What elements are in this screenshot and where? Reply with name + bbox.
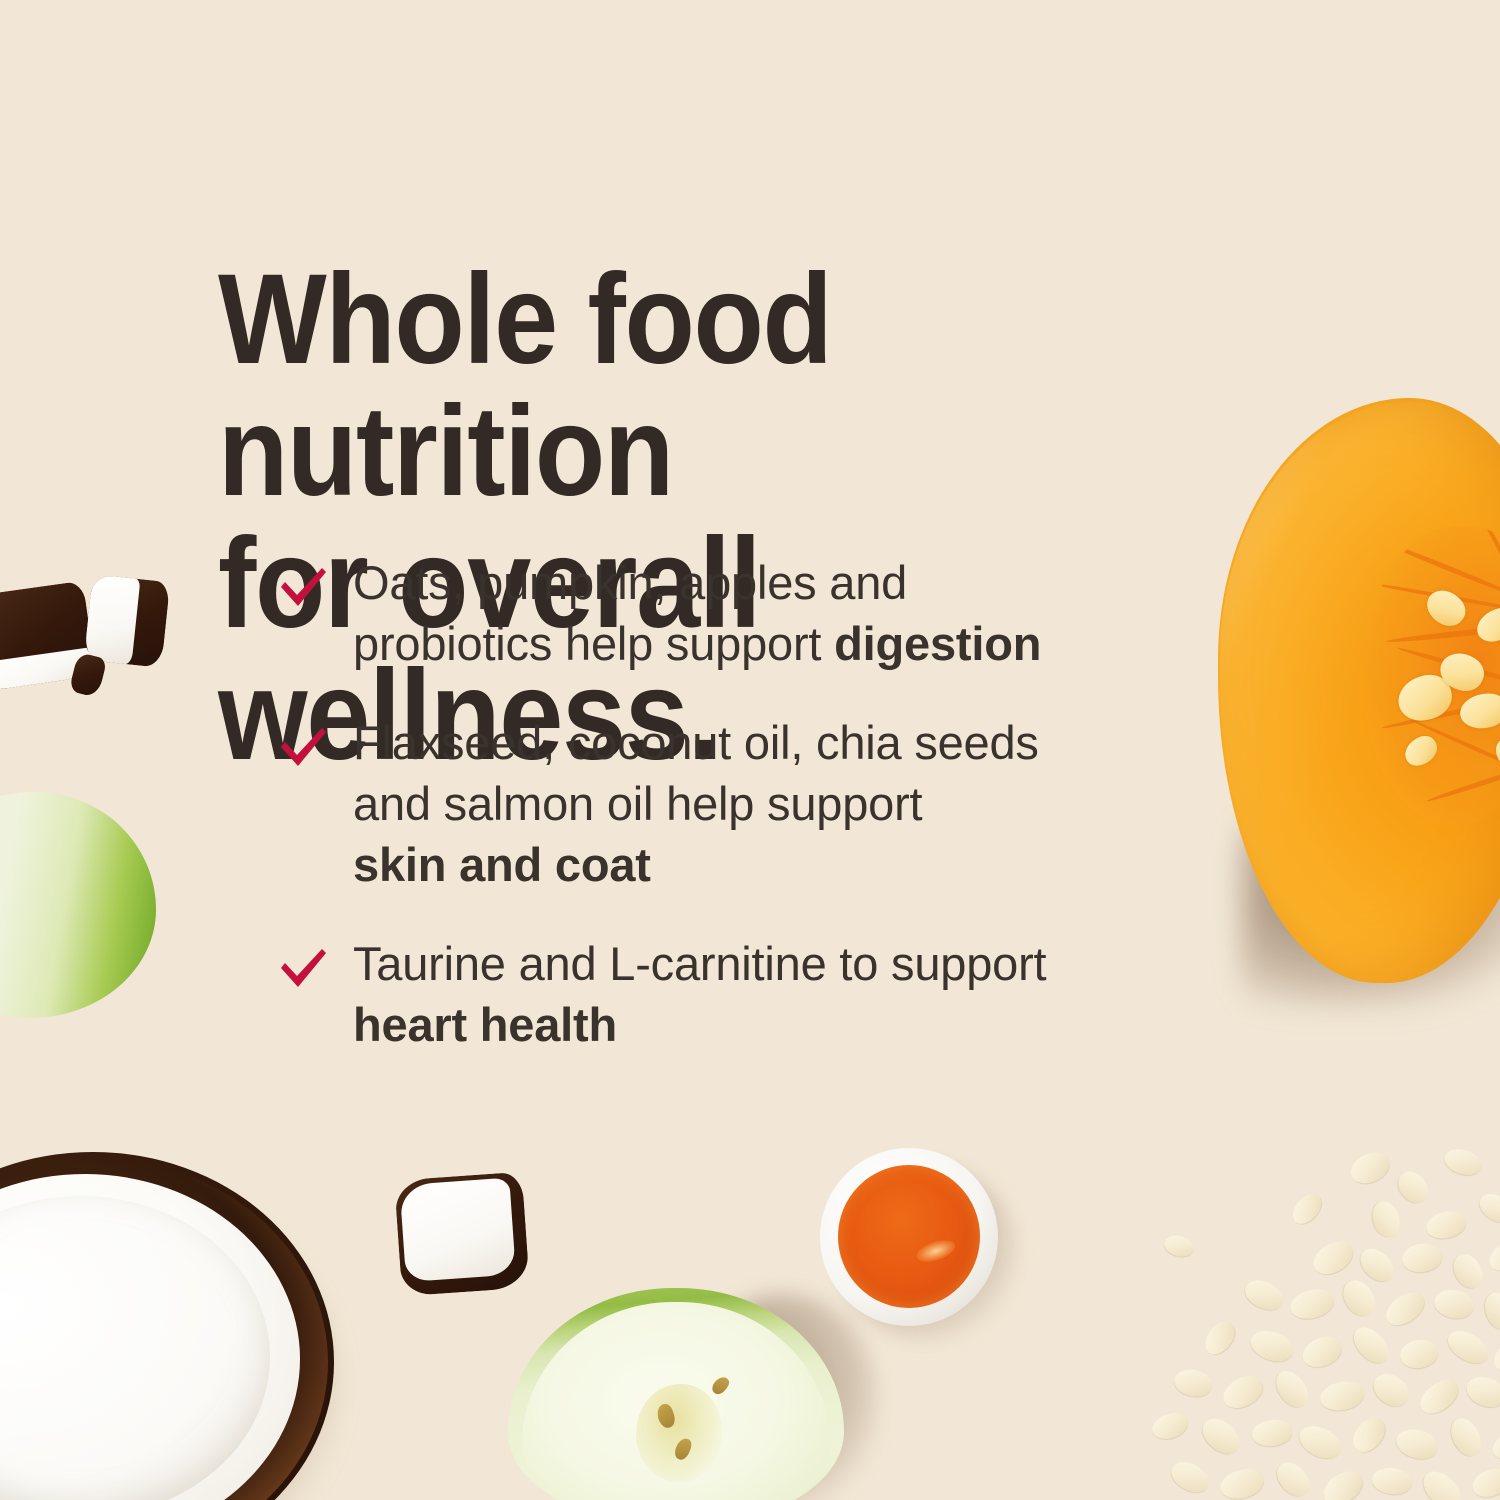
benefit-text: Flaxseed, coconut oil, chia seeds and sa… — [353, 716, 1039, 891]
salmon-oil-bowl-photo — [820, 1148, 1020, 1348]
check-icon — [277, 947, 329, 993]
benefit-lead: Flaxseed, coconut oil, chia seeds and sa… — [353, 716, 1039, 830]
benefit-emphasis: heart health — [353, 998, 617, 1051]
benefit-lead: Taurine and L-carnitine to support — [353, 937, 1046, 990]
list-item: Taurine and L-carnitine to support heart… — [277, 933, 1277, 1055]
apple-slice-body — [0, 792, 156, 1018]
benefit-emphasis: digestion — [834, 617, 1041, 670]
benefit-text: Oats, pumpkin, apples and probiotics hel… — [353, 556, 1041, 670]
rolled-oats-photo — [1144, 1148, 1500, 1500]
list-item: Flaxseed, coconut oil, chia seeds and sa… — [277, 712, 1277, 895]
coconut-chunk-flesh — [84, 574, 141, 665]
green-apple-slice-photo — [0, 792, 164, 1024]
coconut-chunk-photo — [84, 574, 171, 668]
check-icon — [277, 566, 329, 612]
benefit-text: Taurine and L-carnitine to support heart… — [353, 937, 1046, 1051]
product-benefits-poster: Whole food nutrition for overall wellnes… — [0, 0, 1500, 1500]
benefits-list: Oats, pumpkin, apples and probiotics hel… — [277, 552, 1277, 1055]
coconut-half-photo — [0, 1152, 372, 1500]
coconut-chunk-photo — [394, 1172, 530, 1297]
benefit-emphasis: skin and coat — [353, 838, 651, 891]
coconut-chunk-flesh — [400, 1177, 517, 1282]
list-item: Oats, pumpkin, apples and probiotics hel… — [277, 552, 1277, 674]
oil-surface — [838, 1165, 980, 1308]
apple-half-core — [636, 1384, 722, 1482]
benefit-lead: Oats, pumpkin, apples and probiotics hel… — [353, 556, 907, 670]
green-apple-half-photo — [508, 1288, 860, 1500]
check-icon — [277, 726, 329, 772]
